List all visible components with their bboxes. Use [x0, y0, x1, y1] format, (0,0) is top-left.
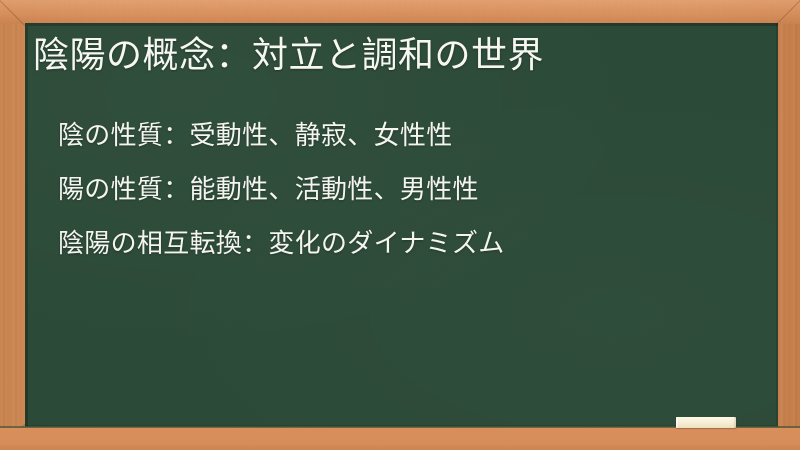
slide-title: 陰陽の概念：対立と調和の世界: [33, 33, 544, 79]
frame-top-rail: [0, 0, 800, 24]
chalkboard-slide: 陰陽の概念：対立と調和の世界 陰の性質：受動性、静寂、女性性 陽の性質：能動性、…: [0, 0, 800, 450]
bullet-item-2: 陽の性質：能動性、活動性、男性性: [58, 163, 768, 217]
chalk-stick-right-cap: [734, 417, 736, 428]
chalk-stick: [676, 417, 736, 428]
bullet-list: 陰の性質：受動性、静寂、女性性 陽の性質：能動性、活動性、男性性 陰陽の相互転換…: [58, 109, 768, 271]
chalk-stick-left-cap: [676, 417, 678, 428]
bullet-item-3: 陰陽の相互転換：変化のダイナミズム: [58, 217, 768, 271]
slide-content: 陰陽の概念：対立と調和の世界 陰の性質：受動性、静寂、女性性 陽の性質：能動性、…: [25, 23, 778, 427]
chalkboard-surface: 陰陽の概念：対立と調和の世界 陰の性質：受動性、静寂、女性性 陽の性質：能動性、…: [25, 23, 778, 427]
chalk-ledge: [0, 428, 800, 450]
bullet-item-1: 陰の性質：受動性、静寂、女性性: [58, 109, 768, 163]
